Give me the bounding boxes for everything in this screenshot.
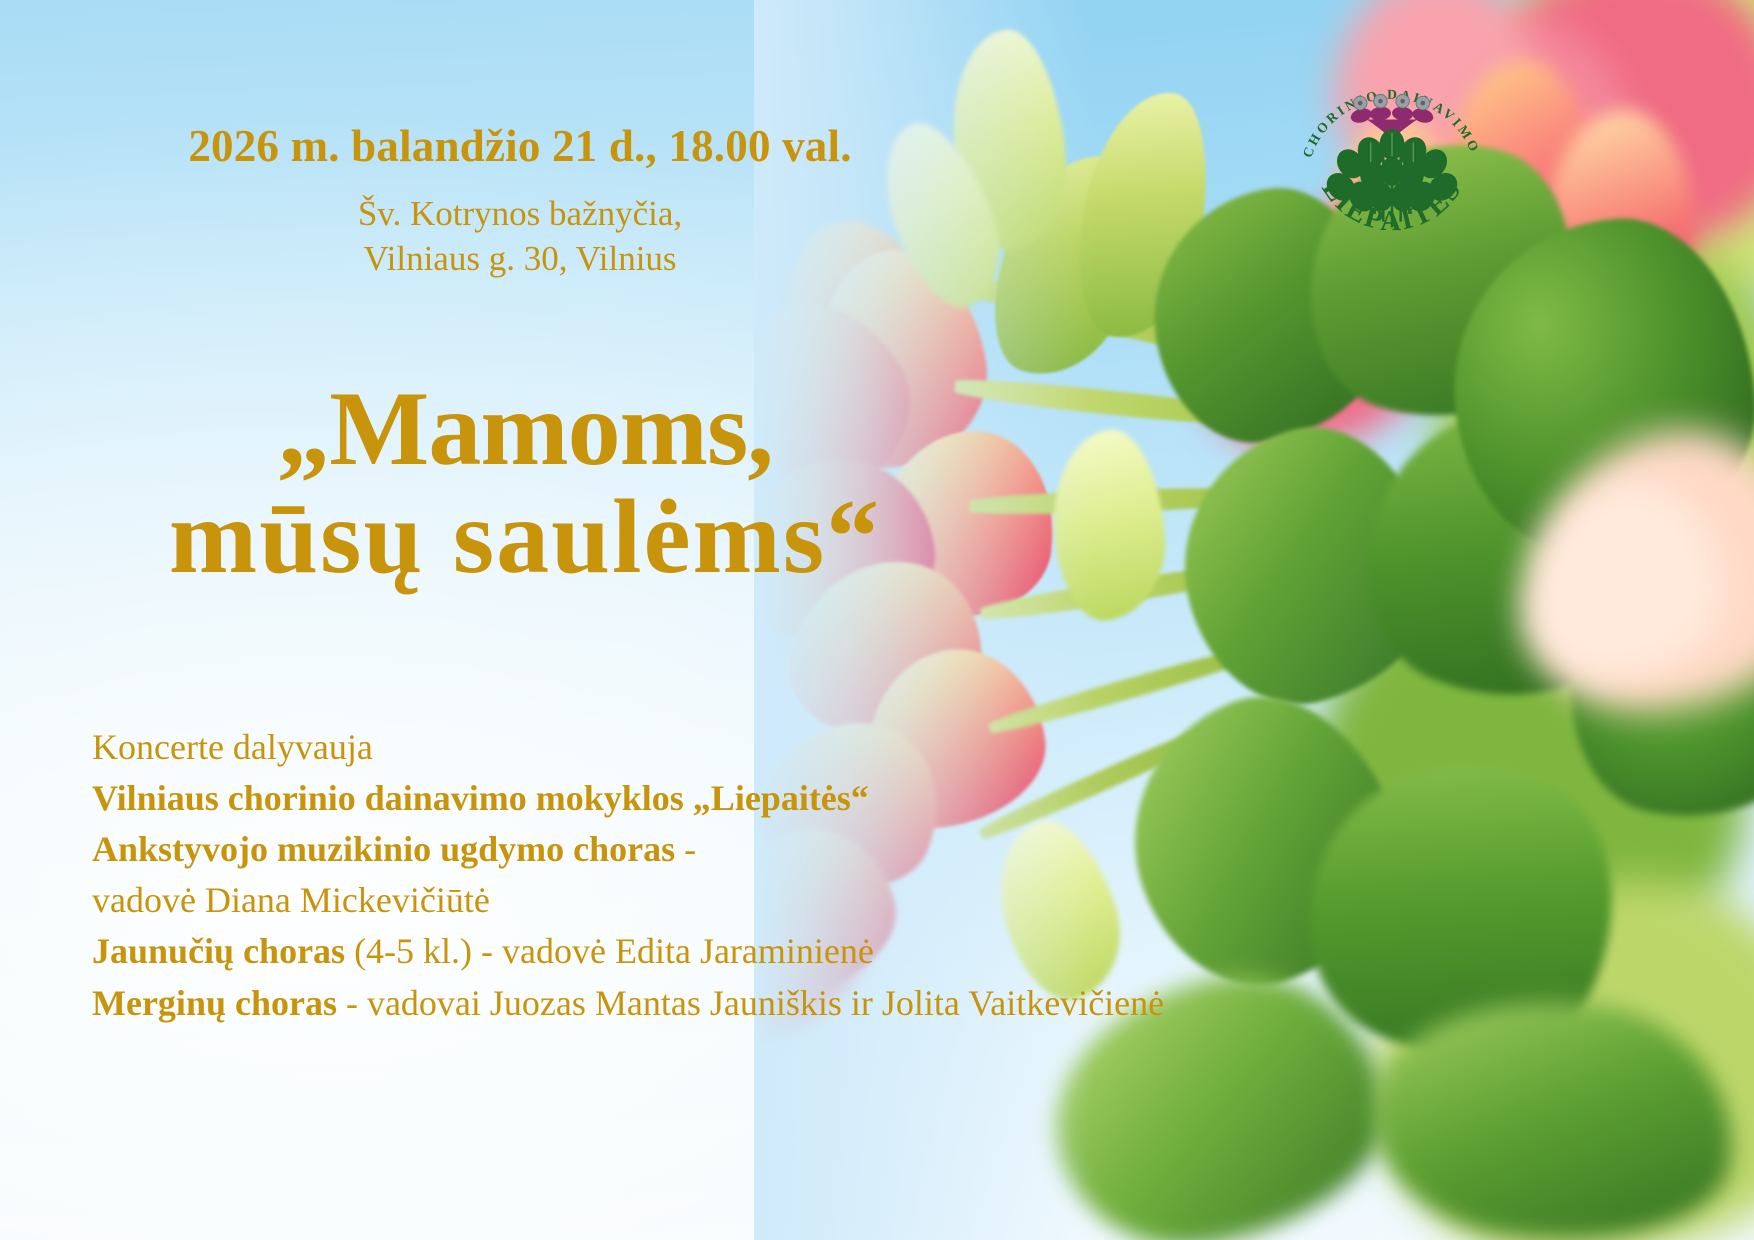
liepaites-school-logo: VILNIAUS CHORINIO DAINAVIMO MOKYKLA LIEP… [1286,52,1498,264]
concert-title-line-1: „Mamoms, [0,375,1050,483]
participant-row: Vilniaus chorinio dainavimo mokyklos „Li… [92,773,1164,824]
participant-row: Jaunučių choras (4-5 kl.) - vadovė Edita… [92,926,1164,977]
venue-line-1: Šv. Kotrynos bažnyčia, [0,192,1040,237]
participants-intro: Koncerte dalyvauja [92,722,1164,773]
venue-line-2: Vilniaus g. 30, Vilnius [0,237,1040,282]
participant-row: Ankstyvojo muzikinio ugdymo choras - [92,824,1164,875]
participant-rest: (4-5 kl.) - vadovė Edita Jaraminienė [345,931,874,971]
concert-title: „Mamoms, mūsų saulėms“ [0,375,1050,591]
participant-bold: Vilniaus chorinio dainavimo mokyklos „Li… [92,778,869,818]
participant-rest: - vadovai Juozas Mantas Jauniškis ir Jol… [337,983,1164,1023]
participant-row: vadovė Diana Mickevičiūtė [92,875,1164,926]
venue-address: Šv. Kotrynos bažnyčia, Vilniaus g. 30, V… [0,192,1040,282]
apple-blossom-photo [754,0,1754,1240]
participant-row: Merginų choras - vadovai Juozas Mantas J… [92,978,1164,1029]
concert-poster: VILNIAUS CHORINIO DAINAVIMO MOKYKLA LIEP… [0,0,1754,1240]
event-date-time: 2026 m. balandžio 21 d., 18.00 val. [0,120,1040,172]
participant-bold: Ankstyvojo muzikinio ugdymo choras [92,829,675,869]
participant-rest: - [675,829,696,869]
participant-bold: Jaunučių choras [92,931,345,971]
participants-block: Koncerte dalyvauja Vilniaus chorinio dai… [92,722,1164,1029]
participant-rest: vadovė Diana Mickevičiūtė [92,880,490,920]
photo-left-fade [754,0,1094,1240]
participant-bold: Merginų choras [92,983,337,1023]
concert-title-line-2: mūsų saulėms“ [0,483,1050,591]
